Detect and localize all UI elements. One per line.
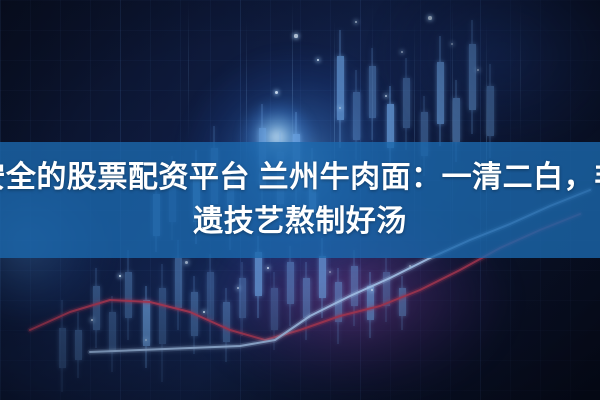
headline-line-1: 安全的股票配资平台 兰州牛肉面：一清二白，非 xyxy=(0,156,600,200)
banner-image: 安全的股票配资平台 兰州牛肉面：一清二白，非 遗技艺熬制好汤 xyxy=(0,0,600,400)
headline-line-2: 遗技艺熬制好汤 xyxy=(193,200,407,244)
headline-band: 安全的股票配资平台 兰州牛肉面：一清二白，非 遗技艺熬制好汤 xyxy=(0,142,600,258)
